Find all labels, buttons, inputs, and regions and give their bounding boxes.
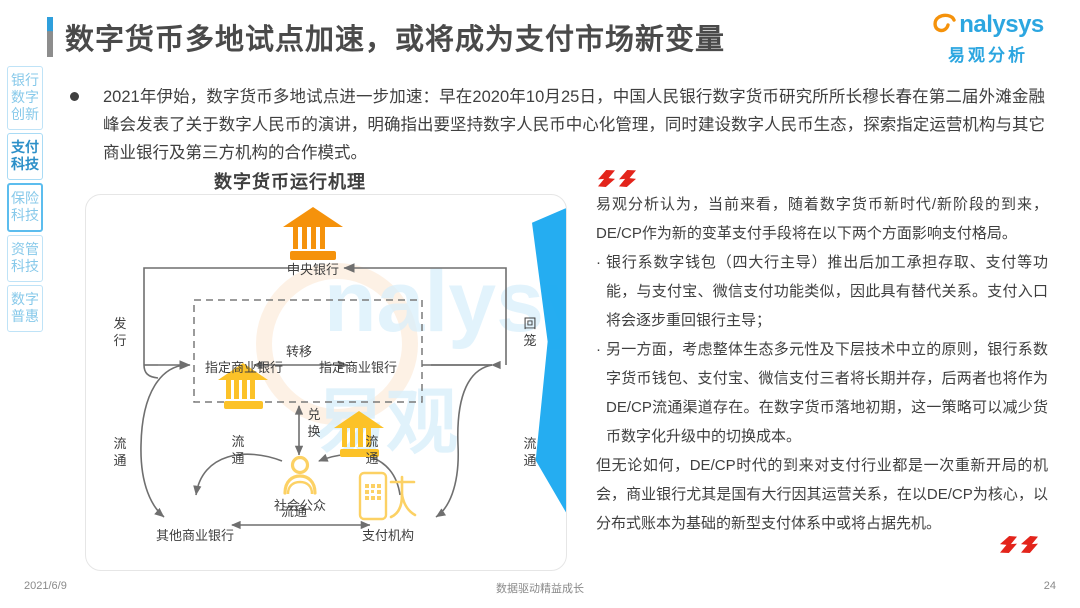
analysis-paragraph-1: 易观分析认为，当前来看，随着数字货币新时代/新阶段的到来，DE/CP作为新的变革… <box>596 190 1048 248</box>
title-text: 数字货币多地试点加速，或将成为支付市场新变量 <box>65 16 725 58</box>
node-designated-bank-left-label: 指定商业银行 <box>198 357 290 376</box>
analysis-bullet-1: · 银行系数字钱包（四大行主导）推出后加工承担存取、支付等功能，与支付宝、微信支… <box>596 248 1048 335</box>
sidebar-item-bank-digital-innovation[interactable]: 银行数字创新 <box>7 66 43 130</box>
bullet-dot-icon <box>70 92 79 101</box>
analysis-bullet-dot-icon: · <box>596 248 606 335</box>
node-other-bank-label: 其他商业银行 <box>148 525 242 544</box>
analysys-logo: nalysys 易观分析 <box>918 10 1058 66</box>
sidebar-item-label: 保险科技 <box>9 190 41 224</box>
quote-open-icon <box>598 170 640 192</box>
analysis-panel: 易观分析认为，当前来看，随着数字货币新时代/新阶段的到来，DE/CP作为新的变革… <box>596 190 1048 538</box>
title-accent-bar <box>47 17 53 57</box>
analysis-bullet-dot-icon: · <box>596 335 606 451</box>
diagram-title: 数字货币运行机理 <box>0 168 580 194</box>
edge-label-circulate-far-right: 流通 <box>520 435 540 469</box>
sidebar-item-digital-inclusive-finance[interactable]: 数字普惠 <box>7 285 43 332</box>
analysis-bullet-1-text: 银行系数字钱包（四大行主导）推出后加工承担存取、支付等功能，与支付宝、微信支付功… <box>606 248 1048 335</box>
edge-label-exchange: 兑换 <box>304 406 324 440</box>
public-person-icon <box>279 453 321 500</box>
logo-swoosh-icon <box>932 12 958 38</box>
central-bank-icon <box>283 207 343 263</box>
edge-label-issue: 发行 <box>110 315 130 349</box>
logo-chinese-text: 易观分析 <box>918 41 1058 66</box>
slide: 数字货币多地试点加速，或将成为支付市场新变量 nalysys 易观分析 银行数字… <box>0 0 1080 608</box>
node-payment-org-label: 支付机构 <box>348 525 428 544</box>
analysis-bullet-2-text: 另一方面，考虑整体生态多元性及下层技术中立的原则，银行系数字货币钱包、支付宝、微… <box>606 335 1048 451</box>
quote-close-icon <box>1000 536 1042 558</box>
node-central-bank-label: 中央银行 <box>269 259 357 278</box>
analysis-paragraph-2: 但无论如何，DE/CP时代的到来对支付行业都是一次重新开局的机会，商业银行尤其是… <box>596 451 1048 538</box>
analysis-bullet-2: · 另一方面，考虑整体生态多元性及下层技术中立的原则，银行系数字货币钱包、支付宝… <box>596 335 1048 451</box>
footer-page-number: 24 <box>1044 580 1056 592</box>
edge-label-circulate-right: 流通 <box>362 433 382 467</box>
logo-wordmark: nalysys <box>918 10 1058 40</box>
sidebar-item-label: 银行数字创新 <box>8 72 42 123</box>
edge-label-transfer: 转移 <box>282 343 316 360</box>
intro-bullet-text: 2021年伊始，数字货币多地试点进一步加速：早在2020年10月25日，中国人民… <box>103 83 1045 167</box>
footer-slogan: 数据驱动精益成长 <box>0 580 1080 596</box>
digital-currency-flow-diagram: nalysys 易观 <box>85 194 567 571</box>
edge-label-circulate-left: 流通 <box>228 433 248 467</box>
sidebar-item-label: 数字普惠 <box>8 291 42 325</box>
node-designated-bank-right-label: 指定商业银行 <box>312 357 404 376</box>
payment-institution-icon <box>358 471 420 526</box>
edge-label-circulate-bottom: 流通 <box>276 503 312 520</box>
sidebar-item-label: 资管科技 <box>8 241 42 275</box>
sidebar-item-asset-management-tech[interactable]: 资管科技 <box>7 235 43 282</box>
edge-label-recall: 回笼 <box>520 315 540 349</box>
intro-bullet: 2021年伊始，数字货币多地试点进一步加速：早在2020年10月25日，中国人民… <box>70 83 1045 167</box>
sidebar[interactable]: 银行数字创新 支付科技 保险科技 资管科技 数字普惠 <box>7 66 45 335</box>
edge-label-circulate-far-left: 流通 <box>110 435 130 469</box>
footer: 2021/6/9 数据驱动精益成长 24 <box>0 580 1080 598</box>
logo-text: nalysys <box>959 12 1044 38</box>
page-title: 数字货币多地试点加速，或将成为支付市场新变量 <box>47 16 725 58</box>
